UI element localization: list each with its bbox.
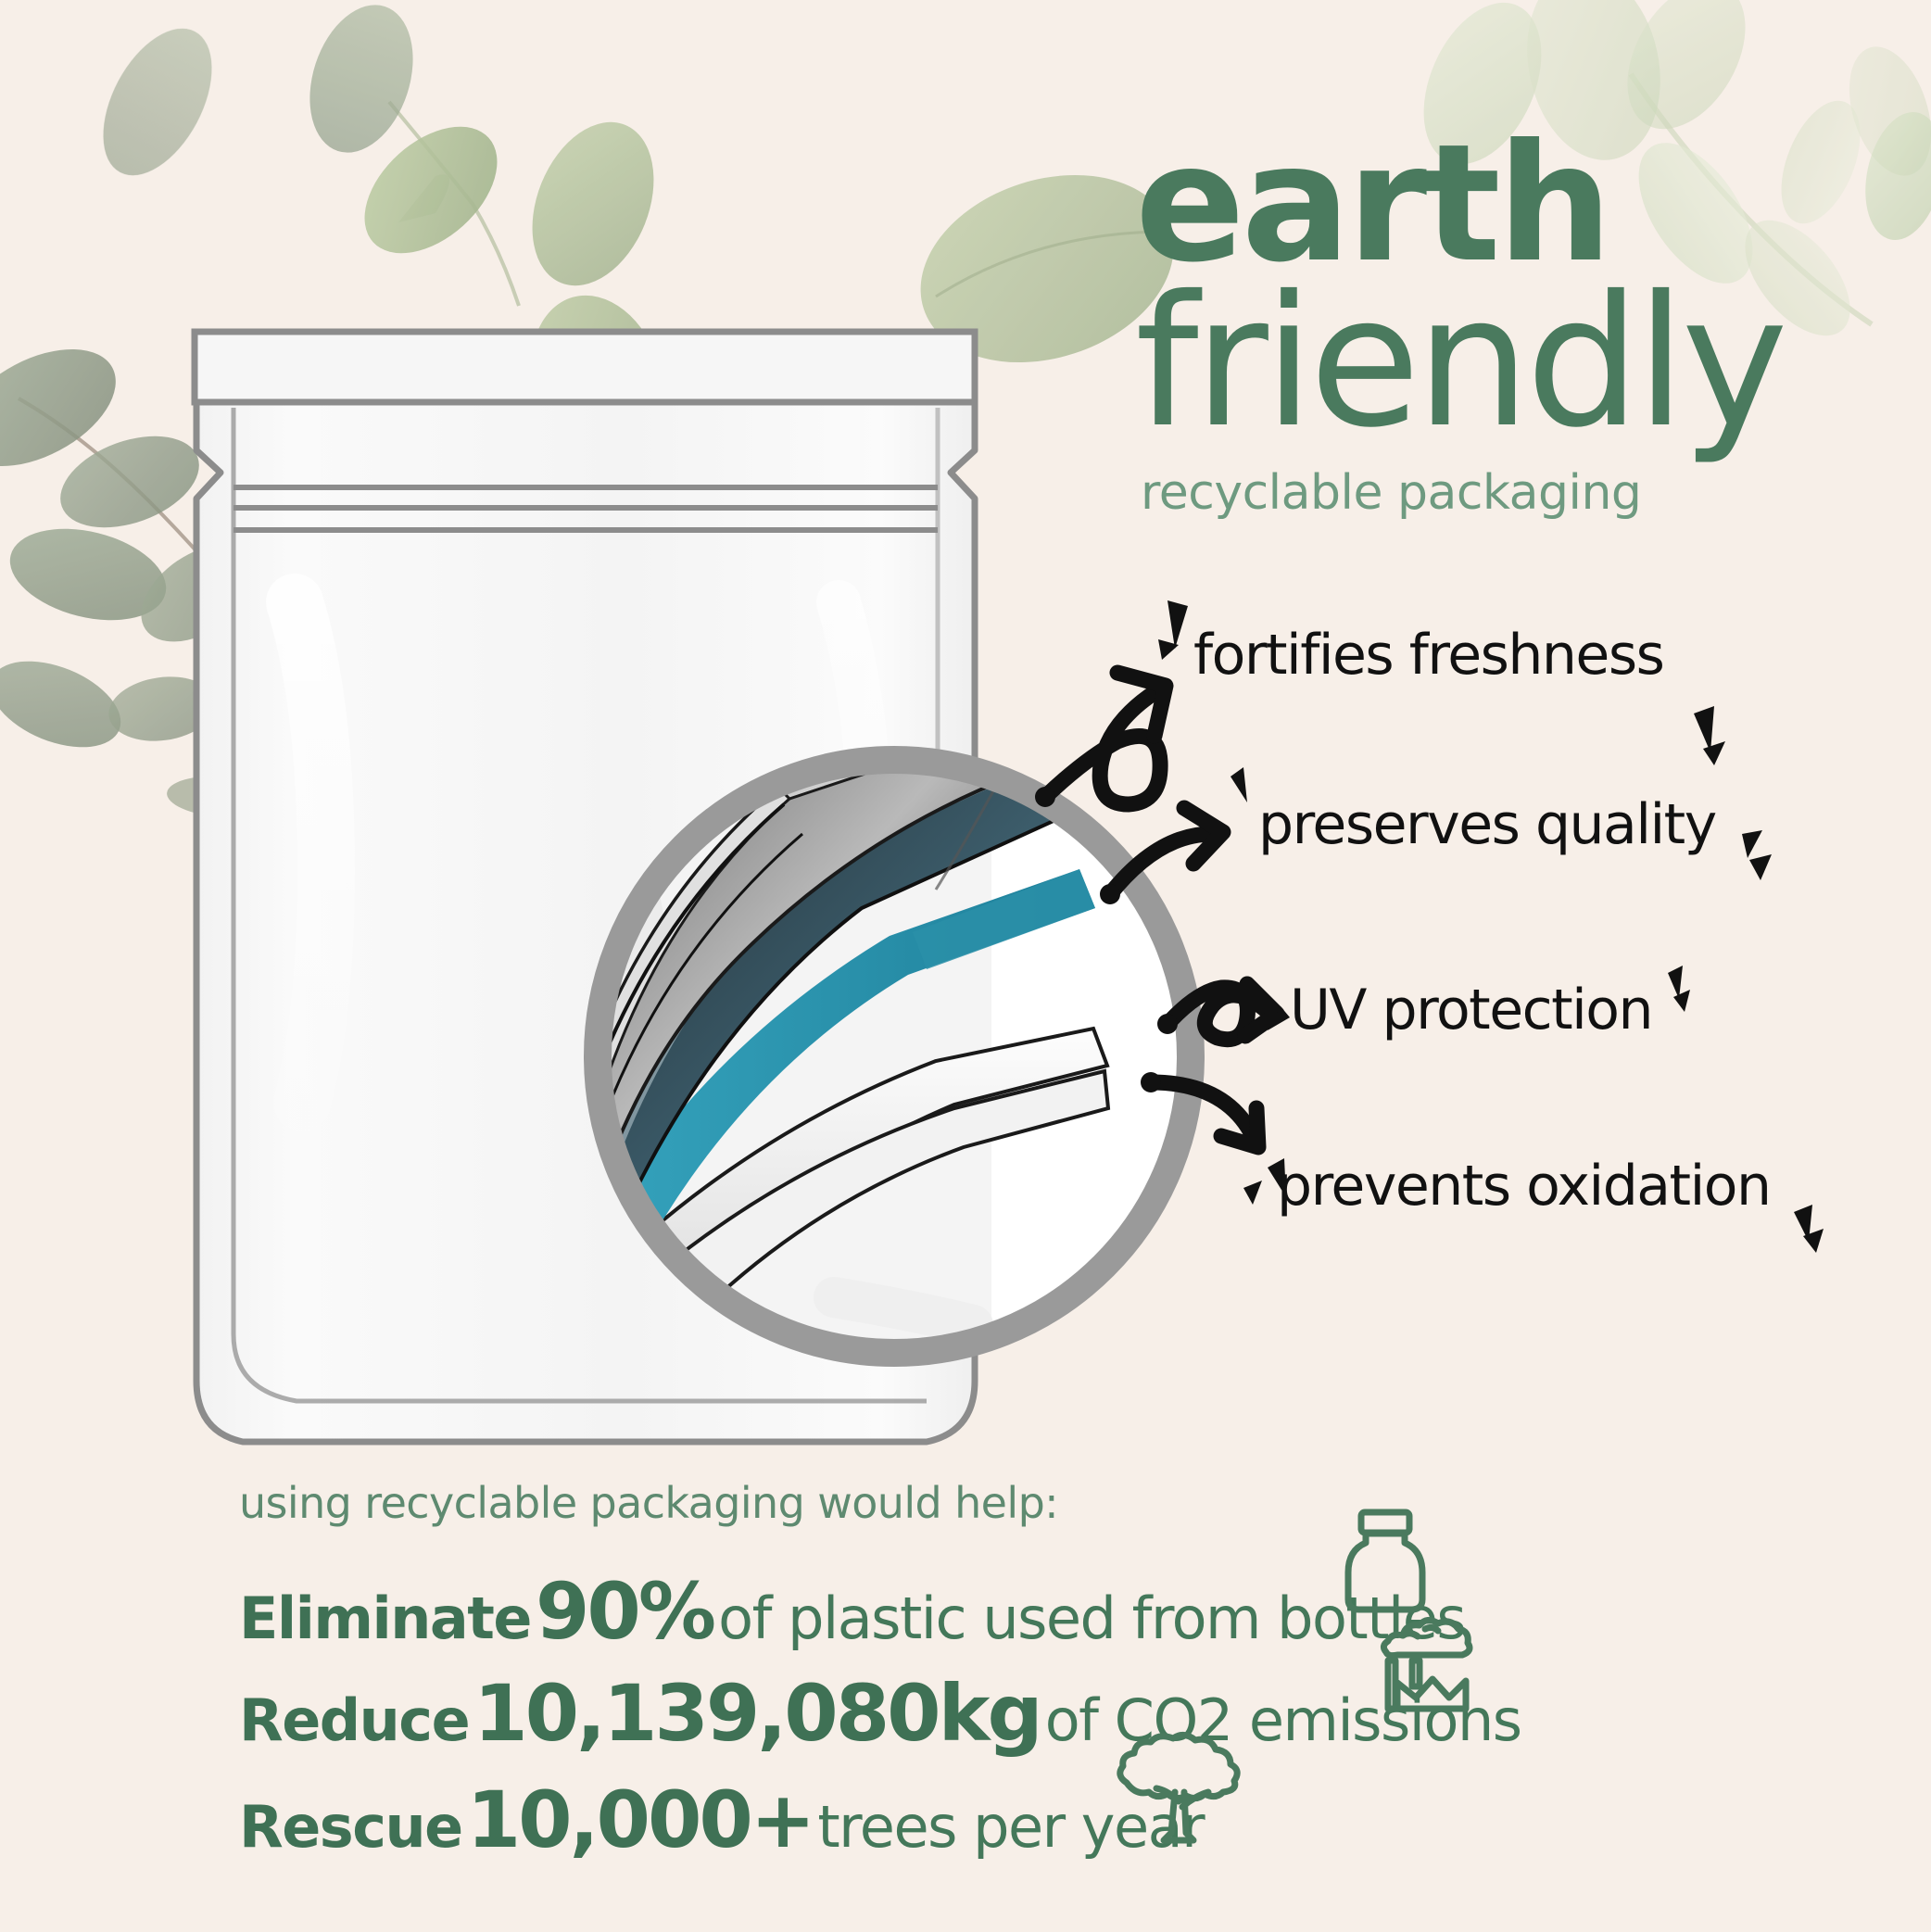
stat-row-rescue: Rescue 10,000+ trees per year	[239, 1774, 1204, 1865]
arrow-uv-protection	[1157, 984, 1277, 1040]
stat-verb: Reduce	[239, 1686, 469, 1754]
headline-block: earth friendly recyclable packaging	[1135, 130, 1895, 521]
stat-verb: Eliminate	[239, 1585, 531, 1652]
arrow-preserves-quality	[1100, 808, 1223, 904]
stat-value: 90%	[536, 1566, 713, 1657]
arrow-prevents-oxidation	[1141, 1072, 1258, 1147]
feature-label-uv-protection: UV protection	[1290, 978, 1652, 1042]
stat-value: 10,000+	[467, 1774, 814, 1865]
infographic-canvas: earth friendly recyclable packaging fort…	[0, 0, 1931, 1932]
stats-intro: using recyclable packaging would help:	[239, 1478, 1058, 1528]
feature-label-fortifies-freshness: fortifies freshness	[1193, 623, 1663, 688]
tree-icon	[1108, 1731, 1256, 1857]
feature-label-preserves-quality: preserves quality	[1258, 792, 1716, 857]
stat-value: 10,139,080kg	[473, 1668, 1040, 1759]
feature-label-prevents-oxidation: prevents oxidation	[1277, 1154, 1770, 1219]
bottle-icon	[1335, 1508, 1435, 1621]
headline-subtitle: recyclable packaging	[1141, 465, 1895, 521]
stat-row-reduce: Reduce 10,139,080kg of CO2 emissions	[239, 1668, 1521, 1759]
headline-line-2: friendly	[1135, 275, 1895, 448]
arrow-fortifies-freshness	[1035, 673, 1166, 807]
stat-row-eliminate: Eliminate 90% of plastic used from bottl…	[239, 1566, 1465, 1657]
stat-verb: Rescue	[239, 1793, 462, 1861]
factory-icon	[1377, 1612, 1486, 1736]
